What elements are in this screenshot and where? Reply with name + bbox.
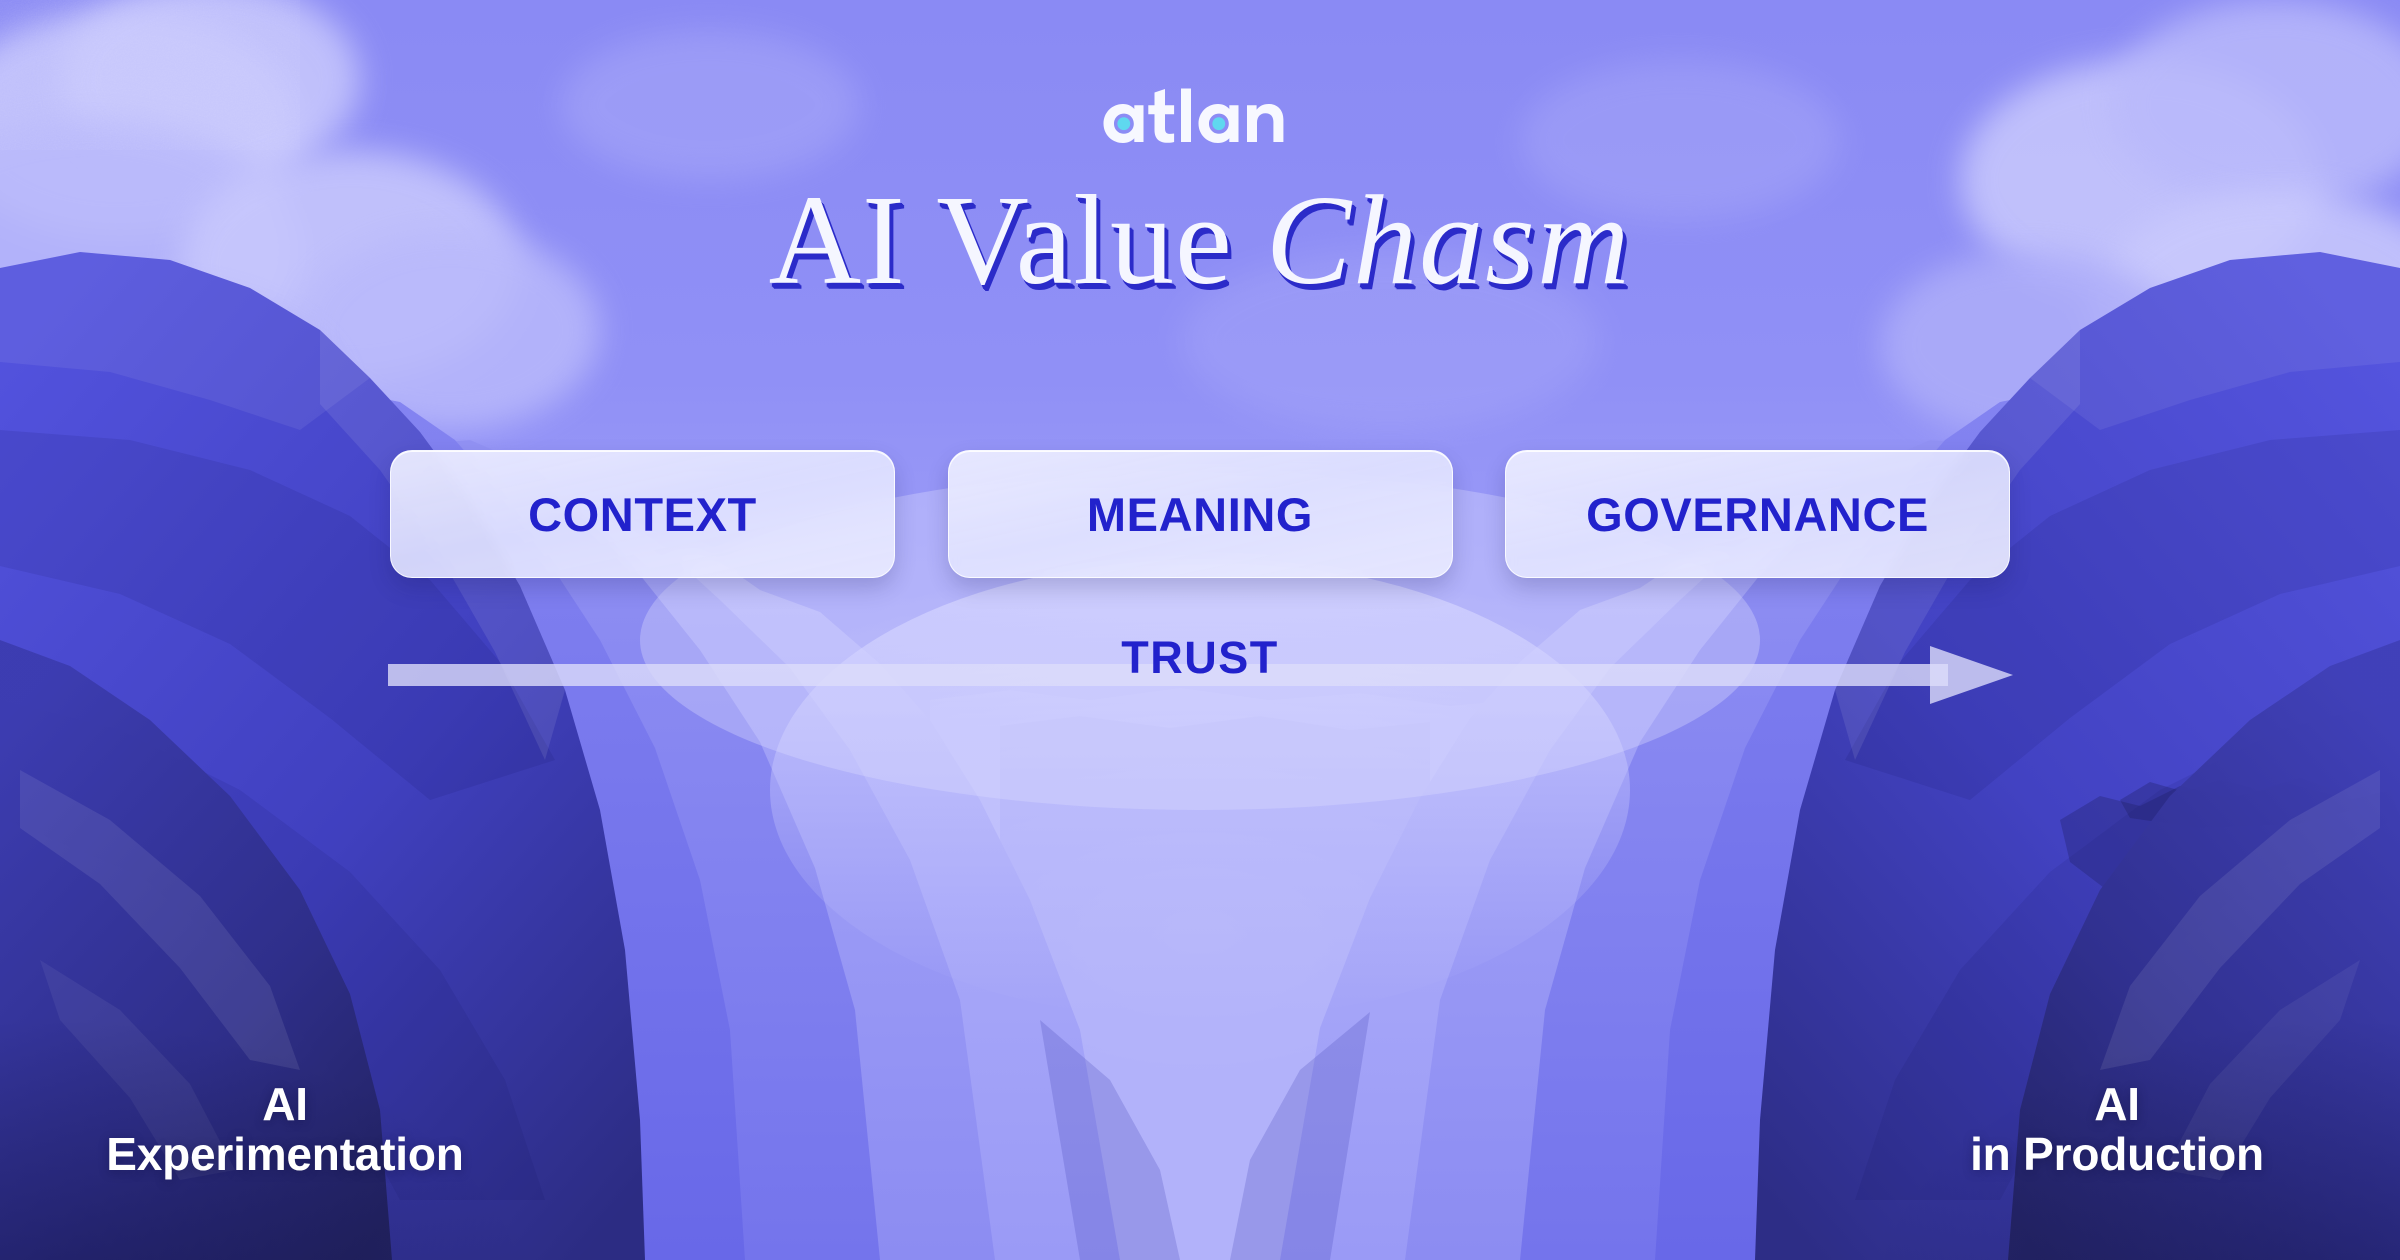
- left-edge-label: AI Experimentation: [60, 1079, 510, 1180]
- logo-dot-icon: [1117, 117, 1130, 130]
- left-edge-label-line2: Experimentation: [106, 1128, 463, 1180]
- right-edge-label: AI in Production: [1892, 1079, 2342, 1180]
- pill-context-label: CONTEXT: [528, 487, 757, 542]
- pill-governance-label: GOVERNANCE: [1586, 487, 1929, 542]
- pill-meaning[interactable]: MEANING: [948, 450, 1453, 578]
- pillar-pill-row: CONTEXT MEANING GOVERNANCE: [390, 450, 2010, 578]
- infographic-canvas: AI Value Chasm CONTEXT MEANING GOVERNANC…: [0, 0, 2400, 1260]
- left-edge-label-line1: AI: [60, 1079, 510, 1130]
- right-edge-label-line2: in Production: [1970, 1128, 2264, 1180]
- trust-label: TRUST: [0, 632, 2400, 684]
- pill-meaning-label: MEANING: [1087, 487, 1313, 542]
- atlan-wordmark-icon: [1095, 86, 1305, 152]
- logo-dot-icon: [1212, 117, 1225, 130]
- pill-governance[interactable]: GOVERNANCE: [1505, 450, 2010, 578]
- title-italic-part: Chasm: [1266, 169, 1632, 311]
- right-edge-label-line1: AI: [1892, 1079, 2342, 1130]
- title-regular-part: AI Value: [769, 169, 1233, 311]
- atlan-logo[interactable]: [0, 86, 2400, 156]
- content-layer: AI Value Chasm CONTEXT MEANING GOVERNANC…: [0, 0, 2400, 1260]
- page-title: AI Value Chasm: [0, 176, 2400, 304]
- pill-context[interactable]: CONTEXT: [390, 450, 895, 578]
